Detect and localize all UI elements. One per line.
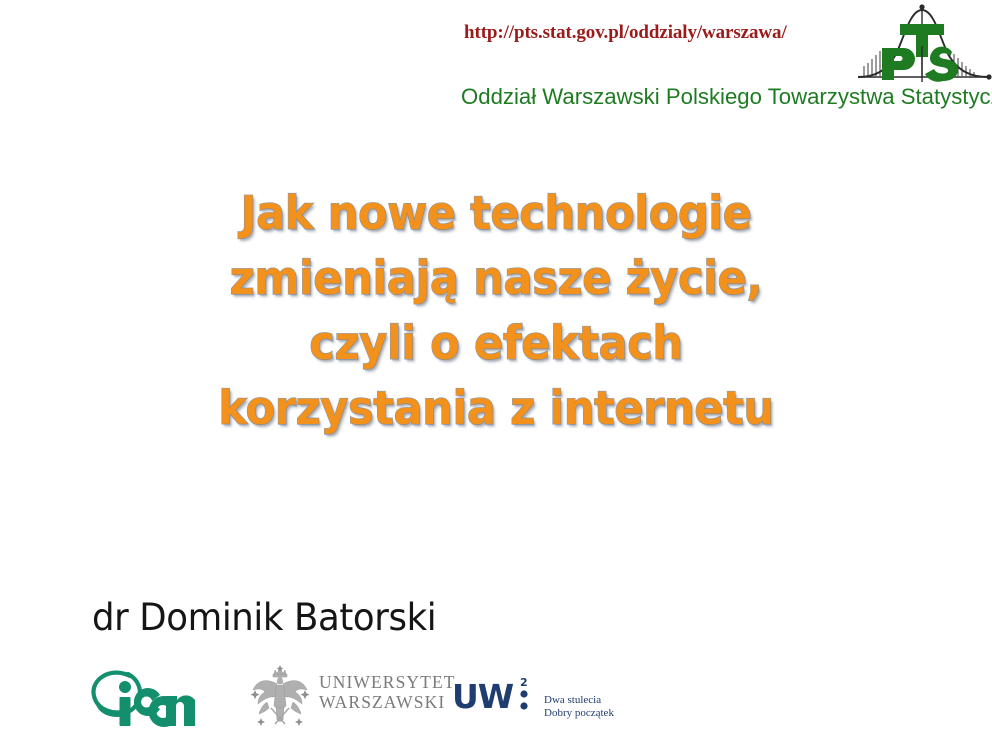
slide-title: Jak nowe technologie zmieniają nasze życ…: [0, 181, 992, 441]
university-of-warsaw-name: UNIWERSYTET WARSZAWSKI: [319, 672, 456, 712]
svg-text:2: 2: [520, 676, 528, 689]
icm-logo: [88, 664, 208, 730]
title-line-3: czyli o efektach: [30, 311, 962, 376]
pts-website-url[interactable]: http://pts.stat.gov.pl/oddzialy/warszawa…: [464, 22, 787, 44]
institution-logos: UNIWERSYTET WARSZAWSKI UW 2 Dwa stulecia…: [0, 660, 992, 740]
uw-name-line-1: UNIWERSYTET: [319, 672, 456, 692]
uw-name-line-2: WARSZAWSKI: [319, 692, 456, 712]
uw-bicentennial-logo: UW 2 Dwa stulecia Dobry początek: [452, 670, 642, 726]
presentation-slide: http://pts.stat.gov.pl/oddzialy/warszawa…: [0, 0, 992, 744]
title-line-1: Jak nowe technologie: [30, 181, 962, 246]
slide-header: http://pts.stat.gov.pl/oddzialy/warszawa…: [0, 0, 992, 118]
university-of-warsaw-logo: UNIWERSYTET WARSZAWSKI: [245, 664, 441, 730]
uw-bicentennial-tagline: Dwa stulecia Dobry początek: [544, 694, 614, 720]
svg-text:UW: UW: [452, 677, 514, 716]
uw2-tagline-line-1: Dwa stulecia: [544, 694, 614, 707]
title-line-2: zmieniają nasze życie,: [30, 246, 962, 311]
title-line-4: korzystania z internetu: [30, 376, 962, 441]
author-name: dr Dominik Batorski: [92, 596, 436, 639]
tps-bell-curve-logo: [856, 2, 992, 88]
uw2-tagline-line-2: Dobry początek: [544, 707, 614, 720]
